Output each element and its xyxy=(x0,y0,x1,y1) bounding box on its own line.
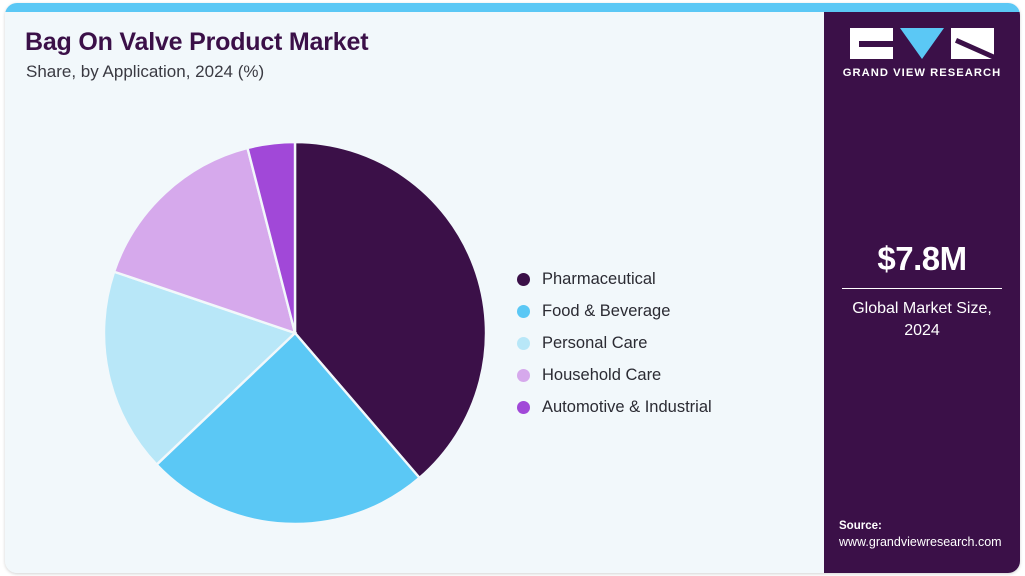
legend-swatch-icon xyxy=(517,369,530,382)
pie-slice-group xyxy=(104,142,486,524)
market-size-stat: $7.8M Global Market Size, 2024 xyxy=(824,240,1020,342)
accent-top-bar xyxy=(5,3,1020,12)
logo-marks xyxy=(824,28,1020,59)
stat-divider xyxy=(842,288,1002,289)
source-url[interactable]: www.grandviewresearch.com xyxy=(839,535,1020,549)
page-subtitle: Share, by Application, 2024 (%) xyxy=(26,62,264,82)
legend-swatch-icon xyxy=(517,337,530,350)
source-block: Source: www.grandviewresearch.com xyxy=(839,520,1020,549)
market-size-caption: Global Market Size, 2024 xyxy=(824,298,1020,342)
chart-content-area: Bag On Valve Product Market Share, by Ap… xyxy=(5,12,824,573)
legend-item-label: Automotive & Industrial xyxy=(542,398,712,417)
legend-item-label: Pharmaceutical xyxy=(542,270,656,289)
legend-swatch-icon xyxy=(517,401,530,414)
brand-logo: GRAND VIEW RESEARCH xyxy=(824,28,1020,79)
legend-item[interactable]: Personal Care xyxy=(517,327,807,359)
legend-swatch-icon xyxy=(517,305,530,318)
brand-name: GRAND VIEW RESEARCH xyxy=(824,67,1020,79)
legend-item[interactable]: Automotive & Industrial xyxy=(517,391,807,423)
source-label: Source: xyxy=(839,520,1020,532)
market-size-value: $7.8M xyxy=(824,240,1020,278)
legend-item[interactable]: Pharmaceutical xyxy=(517,263,807,295)
legend-item-label: Food & Beverage xyxy=(542,302,670,321)
chart-card: Bag On Valve Product Market Share, by Ap… xyxy=(5,3,1020,573)
pie-chart-svg xyxy=(99,137,491,529)
chart-legend: PharmaceuticalFood & BeveragePersonal Ca… xyxy=(517,263,807,423)
legend-swatch-icon xyxy=(517,273,530,286)
gvr-logo-r-icon xyxy=(951,28,994,59)
page-title: Bag On Valve Product Market xyxy=(25,28,368,57)
gvr-logo-g-icon xyxy=(850,28,893,59)
legend-item[interactable]: Household Care xyxy=(517,359,807,391)
legend-item-label: Personal Care xyxy=(542,334,647,353)
legend-item-label: Household Care xyxy=(542,366,661,385)
pie-chart xyxy=(99,137,491,529)
brand-panel: GRAND VIEW RESEARCH $7.8M Global Market … xyxy=(824,12,1020,573)
legend-item[interactable]: Food & Beverage xyxy=(517,295,807,327)
gvr-logo-v-triangle-icon xyxy=(900,28,944,59)
